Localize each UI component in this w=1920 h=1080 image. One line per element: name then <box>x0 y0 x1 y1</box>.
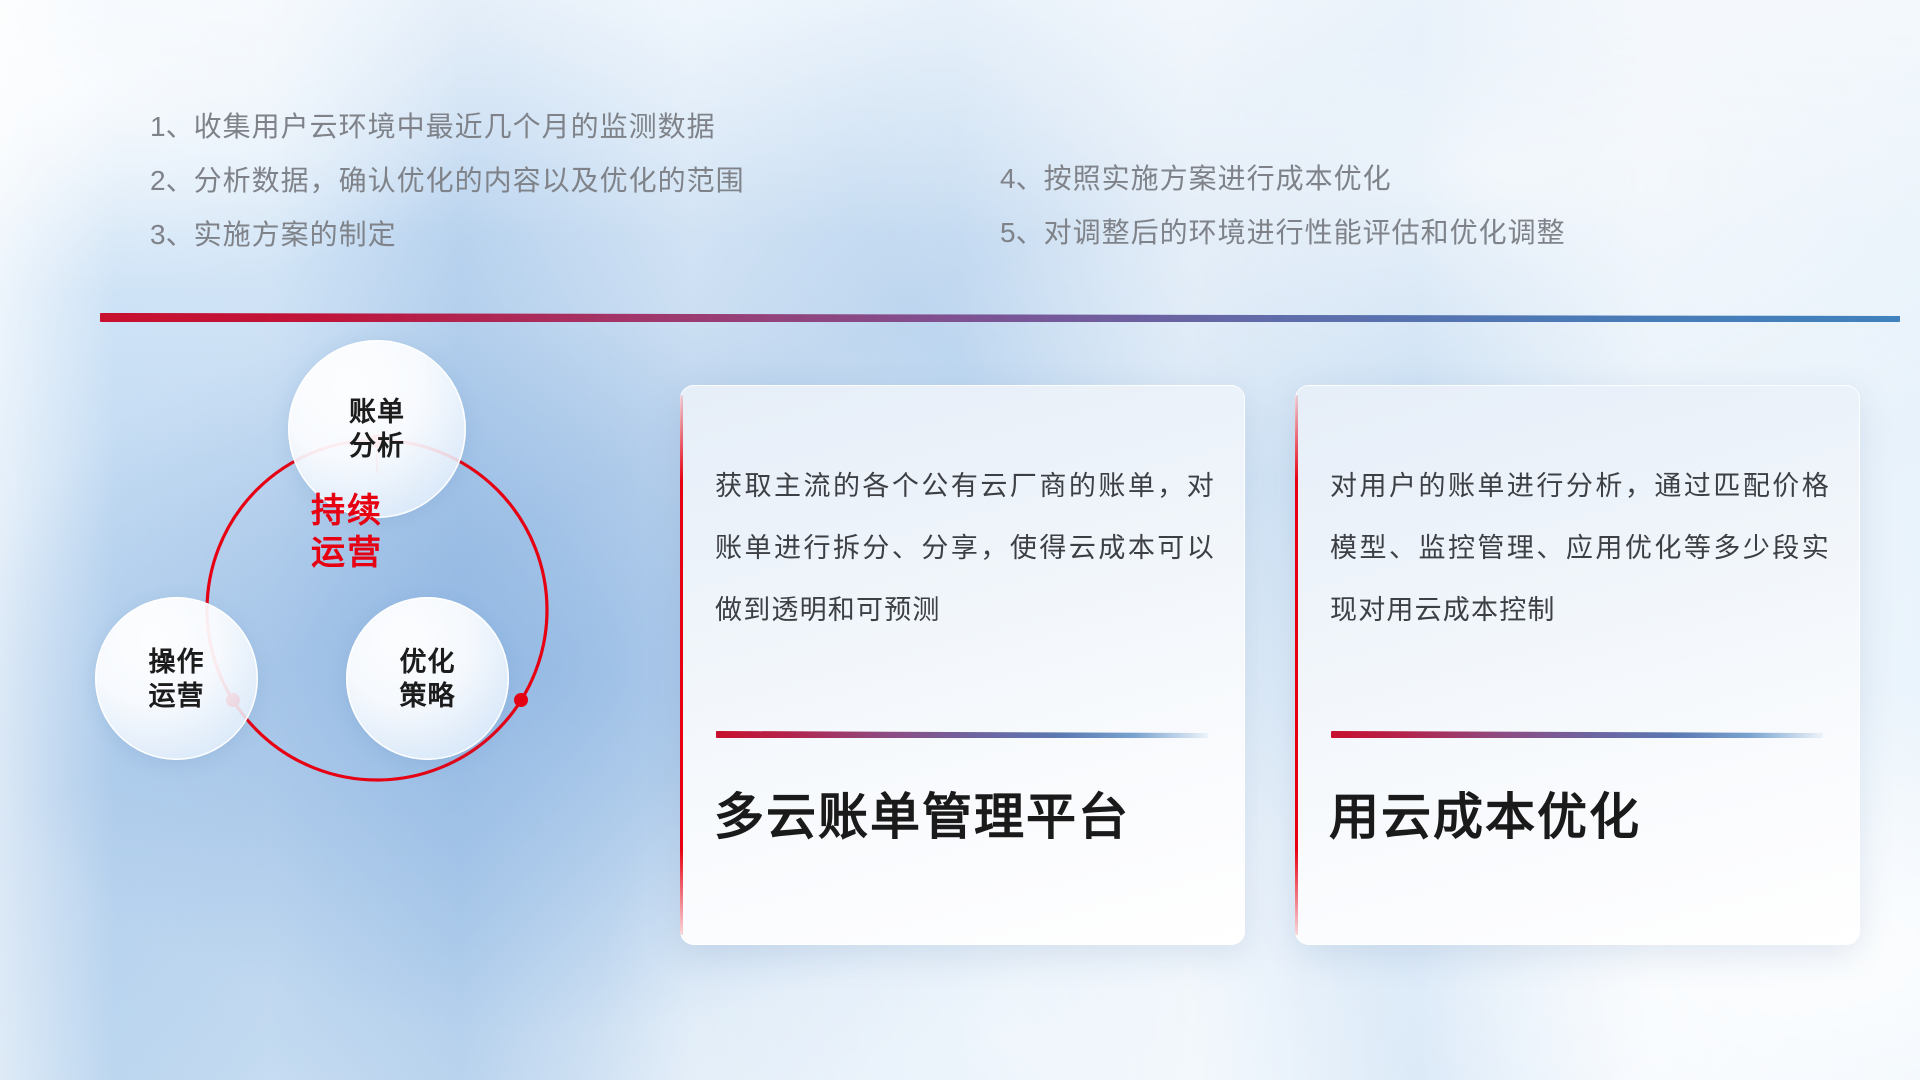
step-text: 对调整后的环境进行性能评估和优化调整 <box>1044 217 1566 248</box>
card-divider <box>1331 731 1823 738</box>
bubble-optimization-strategy-label: 优化 策略 <box>400 645 456 713</box>
step-item-4: 4、按照实施方案进行成本优化 <box>1000 152 1566 206</box>
step-item-2: 2、分析数据，确认优化的内容以及优化的范围 <box>150 154 745 208</box>
card-cloud-cost-optimization[interactable]: 对用户的账单进行分析，通过匹配价格模型、监控管理、应用优化等多少段实现对用云成本… <box>1295 385 1860 945</box>
bubble-label-line2: 策略 <box>400 679 456 713</box>
card-multi-cloud-bill[interactable]: 获取主流的各个公有云厂商的账单，对账单进行拆分、分享，使得云成本可以做到透明和可… <box>680 385 1245 945</box>
bubble-optimization-strategy[interactable]: 优化 策略 <box>346 597 509 760</box>
step-number: 1、 <box>150 111 194 142</box>
card-divider <box>716 731 1208 738</box>
ring-node-right-dot <box>514 693 528 707</box>
bubble-label-line1: 优化 <box>400 645 456 679</box>
step-number: 2、 <box>150 165 194 196</box>
step-item-5: 5、对调整后的环境进行性能评估和优化调整 <box>1000 206 1566 260</box>
card-body-text: 获取主流的各个公有云厂商的账单，对账单进行拆分、分享，使得云成本可以做到透明和可… <box>715 455 1215 641</box>
center-label-line1: 持续 <box>242 490 452 532</box>
bubble-operation-label: 操作 运营 <box>149 645 205 713</box>
step-text: 实施方案的制定 <box>194 219 397 250</box>
step-number: 4、 <box>1000 163 1044 194</box>
step-text: 按照实施方案进行成本优化 <box>1044 163 1392 194</box>
bubble-label-line1: 操作 <box>149 645 205 679</box>
bubble-bill-analysis-label: 账单 分析 <box>349 395 405 463</box>
bubble-label-line2: 运营 <box>149 679 205 713</box>
bubble-operation[interactable]: 操作 运营 <box>95 597 258 760</box>
continuous-operation-diagram: 账单 分析 操作 运营 优化 策略 持续 运营 <box>95 355 635 935</box>
center-label-line2: 运营 <box>242 532 452 574</box>
bubble-label-line1: 账单 <box>349 395 405 429</box>
diagram-center-label: 持续 运营 <box>242 490 452 574</box>
step-number: 3、 <box>150 219 194 250</box>
steps-left-column: 1、收集用户云环境中最近几个月的监测数据 2、分析数据，确认优化的内容以及优化的… <box>150 100 745 262</box>
step-text: 收集用户云环境中最近几个月的监测数据 <box>194 111 716 142</box>
step-item-1: 1、收集用户云环境中最近几个月的监测数据 <box>150 100 745 154</box>
steps-section: 1、收集用户云环境中最近几个月的监测数据 2、分析数据，确认优化的内容以及优化的… <box>0 0 1920 300</box>
steps-right-column: 4、按照实施方案进行成本优化 5、对调整后的环境进行性能评估和优化调整 <box>1000 152 1566 260</box>
bubble-label-line2: 分析 <box>349 429 405 463</box>
step-number: 5、 <box>1000 217 1044 248</box>
step-text: 分析数据，确认优化的内容以及优化的范围 <box>194 165 745 196</box>
card-body-text: 对用户的账单进行分析，通过匹配价格模型、监控管理、应用优化等多少段实现对用云成本… <box>1330 455 1830 641</box>
card-title: 用云成本优化 <box>1329 785 1641 849</box>
step-item-3: 3、实施方案的制定 <box>150 208 745 262</box>
card-title: 多云账单管理平台 <box>714 785 1130 849</box>
